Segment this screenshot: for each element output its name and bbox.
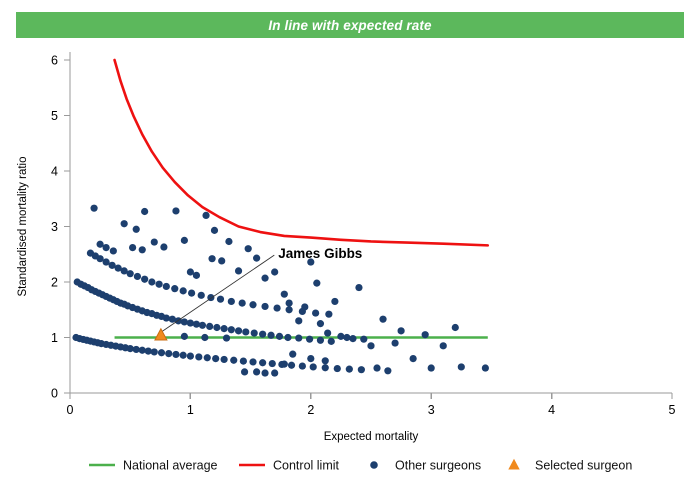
data-point[interactable] [343, 334, 350, 341]
funnel-plot-figure: 0123456012345Expected mortalityStandardi… [0, 40, 700, 500]
data-point[interactable] [172, 207, 179, 214]
y-tick-label-5: 5 [51, 109, 58, 123]
data-point[interactable] [151, 238, 158, 245]
data-point[interactable] [355, 284, 362, 291]
data-point[interactable] [288, 362, 295, 369]
x-tick-label-1: 1 [187, 403, 194, 417]
data-point[interactable] [267, 332, 274, 339]
data-point[interactable] [204, 354, 211, 361]
data-point[interactable] [313, 280, 320, 287]
data-point[interactable] [235, 327, 242, 334]
data-point[interactable] [141, 208, 148, 215]
legend-selected-surgeon-label: Selected surgeon [535, 459, 632, 473]
selected-surgeon-marker[interactable] [155, 329, 167, 340]
data-point[interactable] [228, 298, 235, 305]
data-point[interactable] [249, 301, 256, 308]
data-point[interactable] [223, 334, 230, 341]
legend-other-surgeons[interactable]: Other surgeons [370, 459, 481, 473]
data-point[interactable] [225, 238, 232, 245]
data-point[interactable] [281, 291, 288, 298]
data-point[interactable] [289, 351, 296, 358]
data-point[interactable] [129, 244, 136, 251]
data-point[interactable] [334, 365, 341, 372]
data-point[interactable] [281, 361, 288, 368]
data-point[interactable] [195, 353, 202, 360]
y-tick-label-2: 2 [51, 276, 58, 290]
y-tick-label-3: 3 [51, 220, 58, 234]
data-point[interactable] [295, 334, 302, 341]
data-point[interactable] [301, 303, 308, 310]
data-point[interactable] [198, 292, 205, 299]
data-point[interactable] [398, 327, 405, 334]
data-point[interactable] [317, 337, 324, 344]
data-point[interactable] [245, 245, 252, 252]
data-point[interactable] [271, 268, 278, 275]
data-point[interactable] [221, 356, 228, 363]
data-point[interactable] [151, 348, 158, 355]
chart-page: In line with expected rate 0123456012345… [0, 0, 700, 500]
legend-national-average[interactable]: National average [89, 459, 218, 473]
data-point[interactable] [276, 333, 283, 340]
data-point[interactable] [180, 352, 187, 359]
data-point[interactable] [180, 287, 187, 294]
data-point[interactable] [259, 359, 266, 366]
data-point[interactable] [217, 296, 224, 303]
data-point[interactable] [271, 369, 278, 376]
data-point[interactable] [228, 326, 235, 333]
data-point[interactable] [269, 360, 276, 367]
data-point[interactable] [90, 205, 97, 212]
data-point[interactable] [172, 351, 179, 358]
data-point[interactable] [346, 366, 353, 373]
y-axis-title: Standardised mortality ratio [17, 157, 29, 297]
x-tick-label-3: 3 [428, 403, 435, 417]
data-point[interactable] [253, 255, 260, 262]
data-point[interactable] [358, 366, 365, 373]
data-point[interactable] [187, 319, 194, 326]
data-point[interactable] [452, 324, 459, 331]
x-axis-title: Expected mortality [324, 431, 419, 443]
funnel-plot-svg: 0123456012345Expected mortalityStandardi… [0, 40, 700, 500]
legend-selected-surgeon-swatch [508, 459, 519, 470]
x-tick-label-2: 2 [307, 403, 314, 417]
data-point[interactable] [331, 298, 338, 305]
data-point[interactable] [261, 369, 268, 376]
data-point[interactable] [306, 336, 313, 343]
data-point[interactable] [181, 237, 188, 244]
data-point[interactable] [208, 255, 215, 262]
y-tick-label-6: 6 [51, 54, 58, 68]
data-point[interactable] [187, 352, 194, 359]
data-point[interactable] [193, 321, 200, 328]
x-tick-label-4: 4 [548, 403, 555, 417]
annotation-leader-line [161, 255, 274, 332]
data-point[interactable] [181, 333, 188, 340]
data-point[interactable] [337, 333, 344, 340]
data-point[interactable] [240, 357, 247, 364]
data-point[interactable] [317, 320, 324, 327]
legend-selected-surgeon[interactable]: Selected surgeon [508, 459, 632, 473]
data-point[interactable] [206, 323, 213, 330]
data-point[interactable] [148, 278, 155, 285]
data-point[interactable] [261, 303, 268, 310]
data-point[interactable] [253, 368, 260, 375]
data-point[interactable] [322, 357, 329, 364]
data-point[interactable] [239, 299, 246, 306]
x-tick-label-0: 0 [67, 403, 74, 417]
annotation-label: James Gibbs [278, 246, 362, 261]
data-point[interactable] [310, 363, 317, 370]
data-point[interactable] [160, 243, 167, 250]
data-point[interactable] [324, 329, 331, 336]
data-point[interactable] [163, 314, 170, 321]
data-point[interactable] [235, 267, 242, 274]
data-point[interactable] [163, 283, 170, 290]
data-point[interactable] [171, 285, 178, 292]
y-tick-label-1: 1 [51, 331, 58, 345]
data-point[interactable] [212, 355, 219, 362]
data-point[interactable] [286, 306, 293, 313]
data-point[interactable] [213, 324, 220, 331]
data-point[interactable] [181, 318, 188, 325]
data-point[interactable] [322, 364, 329, 371]
data-point[interactable] [158, 349, 165, 356]
status-banner: In line with expected rate [16, 12, 684, 38]
data-point[interactable] [379, 316, 386, 323]
data-point[interactable] [221, 325, 228, 332]
data-point[interactable] [422, 331, 429, 338]
data-point[interactable] [261, 275, 268, 282]
data-point[interactable] [259, 331, 266, 338]
data-point[interactable] [367, 342, 374, 349]
data-point[interactable] [373, 364, 380, 371]
data-point[interactable] [249, 358, 256, 365]
x-tick-label-5: 5 [669, 403, 676, 417]
other-surgeons-points [72, 205, 489, 377]
data-point[interactable] [139, 246, 146, 253]
data-point[interactable] [121, 220, 128, 227]
data-point[interactable] [440, 342, 447, 349]
data-point[interactable] [295, 317, 302, 324]
data-point[interactable] [230, 357, 237, 364]
data-point[interactable] [134, 273, 141, 280]
data-point[interactable] [384, 367, 391, 374]
data-point[interactable] [211, 227, 218, 234]
data-point[interactable] [218, 257, 225, 264]
data-point[interactable] [242, 328, 249, 335]
legend-other-surgeons-label: Other surgeons [395, 459, 481, 473]
data-point[interactable] [199, 322, 206, 329]
data-point[interactable] [103, 244, 110, 251]
data-point[interactable] [169, 316, 176, 323]
data-point[interactable] [360, 336, 367, 343]
data-point[interactable] [202, 212, 209, 219]
data-point[interactable] [251, 329, 258, 336]
data-point[interactable] [391, 339, 398, 346]
data-point[interactable] [155, 281, 162, 288]
data-point[interactable] [428, 364, 435, 371]
legend-national-average-label: National average [123, 459, 218, 473]
data-point[interactable] [328, 338, 335, 345]
legend-control-limit[interactable]: Control limit [239, 459, 340, 473]
legend-other-surgeons-swatch [370, 461, 378, 469]
data-point[interactable] [241, 368, 248, 375]
data-point[interactable] [312, 309, 319, 316]
data-point[interactable] [141, 276, 148, 283]
y-tick-label-0: 0 [51, 387, 58, 401]
data-point[interactable] [110, 247, 117, 254]
data-point[interactable] [349, 335, 356, 342]
data-point[interactable] [201, 334, 208, 341]
data-point[interactable] [273, 304, 280, 311]
data-point[interactable] [482, 364, 489, 371]
data-point[interactable] [133, 226, 140, 233]
data-point[interactable] [458, 363, 465, 370]
data-point[interactable] [325, 311, 332, 318]
data-point[interactable] [188, 290, 195, 297]
legend-control-limit-label: Control limit [273, 459, 340, 473]
y-tick-label-4: 4 [51, 165, 58, 179]
control-limit-curve [115, 60, 488, 245]
data-point[interactable] [165, 350, 172, 357]
data-point[interactable] [286, 299, 293, 306]
data-point[interactable] [299, 362, 306, 369]
data-point[interactable] [127, 270, 134, 277]
data-point[interactable] [193, 272, 200, 279]
data-point[interactable] [284, 334, 291, 341]
status-banner-text: In line with expected rate [268, 18, 431, 33]
data-point[interactable] [410, 355, 417, 362]
data-point[interactable] [307, 355, 314, 362]
